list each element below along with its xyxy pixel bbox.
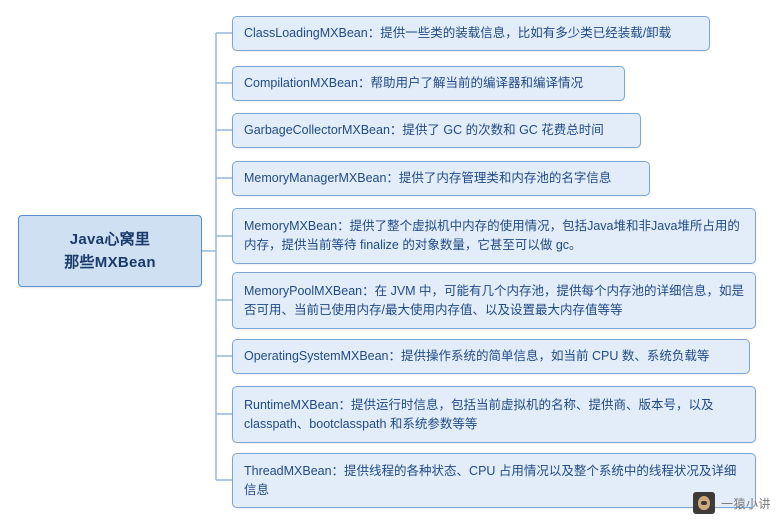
node-memory-manager-mxbean[interactable]: MemoryManagerMXBean：提供了内存管理类和内存池的名字信息	[232, 161, 650, 196]
root-node[interactable]: Java心窝里 那些MXBean	[18, 215, 202, 287]
node-memory-manager-mxbean-text: MemoryManagerMXBean：提供了内存管理类和内存池的名字信息	[244, 169, 611, 188]
node-runtime-mxbean-text: RuntimeMXBean：提供运行时信息，包括当前虚拟机的名称、提供商、版本号…	[244, 396, 745, 434]
node-runtime-mxbean[interactable]: RuntimeMXBean：提供运行时信息，包括当前虚拟机的名称、提供商、版本号…	[232, 386, 756, 443]
node-memory-mxbean-text: MemoryMXBean：提供了整个虚拟机中内存的使用情况，包括Java堆和非J…	[244, 217, 745, 255]
watermark-label: 一猿小讲	[721, 495, 771, 512]
node-class-loading-mxbean[interactable]: ClassLoadingMXBean：提供一些类的装载信息，比如有多少类已经装载…	[232, 16, 710, 51]
watermark-logo-icon	[693, 492, 715, 514]
node-operating-system-mxbean[interactable]: OperatingSystemMXBean：提供操作系统的简单信息，如当前 CP…	[232, 339, 750, 374]
root-label-line1: Java心窝里	[70, 231, 150, 248]
node-memory-pool-mxbean-text: MemoryPoolMXBean：在 JVM 中，可能有几个内存池，提供每个内存…	[244, 282, 745, 320]
root-node-label: Java心窝里 那些MXBean	[64, 228, 156, 274]
node-garbage-collector-mxbean[interactable]: GarbageCollectorMXBean：提供了 GC 的次数和 GC 花费…	[232, 113, 641, 148]
node-garbage-collector-mxbean-text: GarbageCollectorMXBean：提供了 GC 的次数和 GC 花费…	[244, 121, 604, 140]
node-class-loading-mxbean-text: ClassLoadingMXBean：提供一些类的装载信息，比如有多少类已经装载…	[244, 24, 671, 43]
mindmap-canvas: Java心窝里 那些MXBean ClassLoadingMXBean：提供一些…	[0, 0, 779, 520]
node-memory-pool-mxbean[interactable]: MemoryPoolMXBean：在 JVM 中，可能有几个内存池，提供每个内存…	[232, 272, 756, 329]
node-memory-mxbean[interactable]: MemoryMXBean：提供了整个虚拟机中内存的使用情况，包括Java堆和非J…	[232, 208, 756, 264]
node-thread-mxbean-text: ThreadMXBean：提供线程的各种状态、CPU 占用情况以及整个系统中的线…	[244, 462, 745, 500]
root-label-line2: 那些MXBean	[64, 254, 156, 271]
node-operating-system-mxbean-text: OperatingSystemMXBean：提供操作系统的简单信息，如当前 CP…	[244, 347, 709, 366]
watermark: 一猿小讲	[693, 492, 771, 514]
node-compilation-mxbean-text: CompilationMXBean：帮助用户了解当前的编译器和编译情况	[244, 74, 583, 93]
node-compilation-mxbean[interactable]: CompilationMXBean：帮助用户了解当前的编译器和编译情况	[232, 66, 625, 101]
node-thread-mxbean[interactable]: ThreadMXBean：提供线程的各种状态、CPU 占用情况以及整个系统中的线…	[232, 453, 756, 508]
